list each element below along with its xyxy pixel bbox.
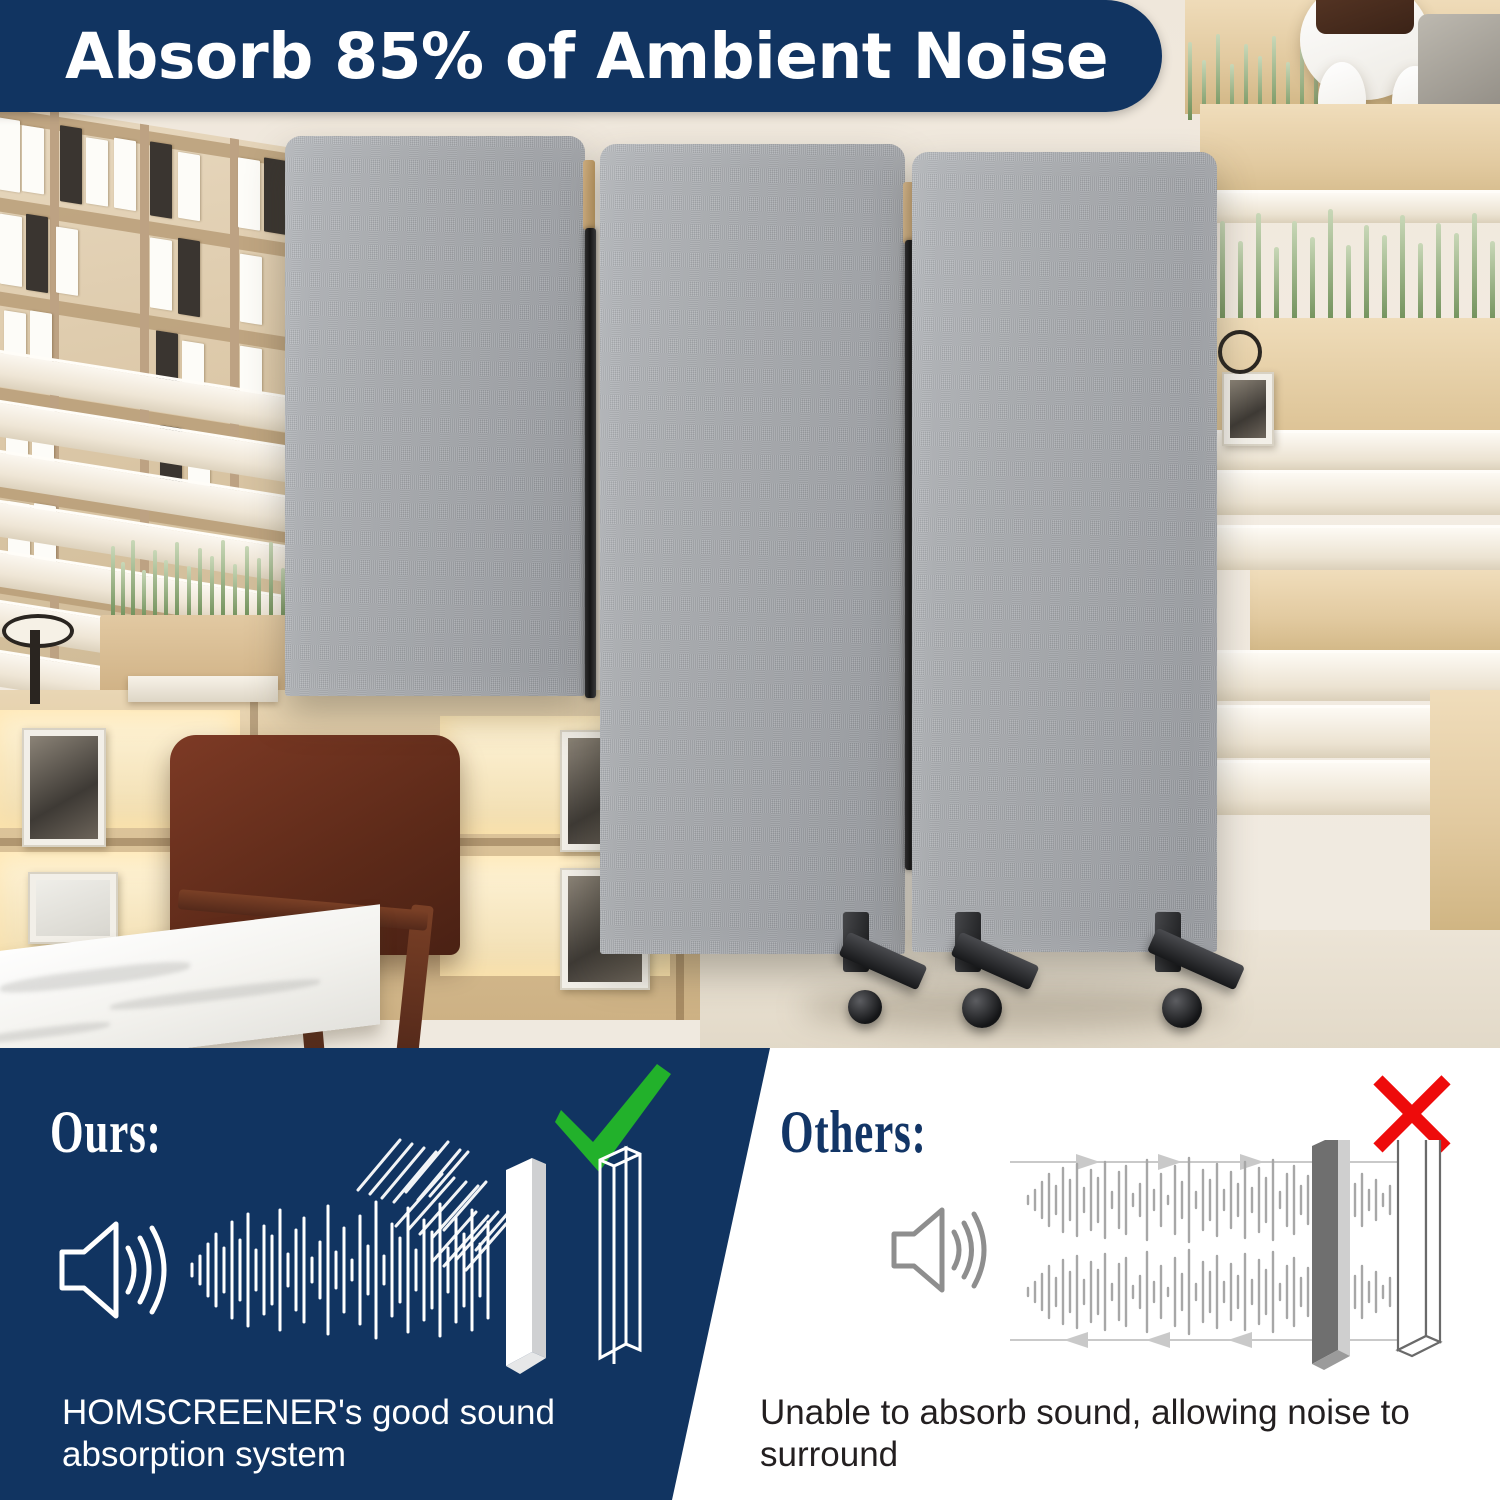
incoming-waveform xyxy=(192,1202,488,1338)
speaker-icon xyxy=(62,1224,164,1316)
hinge-top-1 xyxy=(583,160,595,230)
non-absorbing-panel xyxy=(1312,1140,1350,1370)
ours-caption: HOMSCREENER's good sound absorption syst… xyxy=(62,1392,662,1476)
caster-wheel-3 xyxy=(1162,988,1202,1028)
speaker-icon xyxy=(894,1210,984,1290)
acoustic-panel-solid xyxy=(506,1158,546,1374)
framed-art-2 xyxy=(28,872,118,944)
headline-banner: Absorb 85% of Ambient Noise xyxy=(0,0,1162,112)
decor-ring xyxy=(1218,330,1262,374)
divider-panel-2 xyxy=(600,144,905,954)
caster-wheel-2 xyxy=(962,988,1002,1028)
deflected-waves xyxy=(358,1140,514,1270)
others-caption: Unable to absorb sound, allowing noise t… xyxy=(760,1392,1480,1476)
framed-art-right xyxy=(1222,372,1274,446)
product-marketing-image: Absorb 85% of Ambient Noise Ours: xyxy=(0,0,1500,1500)
hero-product-photo xyxy=(0,0,1500,1048)
others-sound-diagram xyxy=(880,1140,1500,1370)
planter-grass-mid xyxy=(1210,205,1500,325)
ours-sound-diagram xyxy=(40,1130,740,1380)
sculpture-hat xyxy=(1316,0,1414,34)
divider-panel-3 xyxy=(912,152,1217,952)
far-panel-outline xyxy=(1398,1140,1440,1356)
hinge-1 xyxy=(585,228,596,698)
framed-art-1 xyxy=(22,728,106,847)
divider-panel-1 xyxy=(285,136,585,696)
caster-wheel-1 xyxy=(848,990,882,1024)
acoustic-panel-outline xyxy=(600,1148,640,1364)
page-title: Absorb 85% of Ambient Noise xyxy=(65,25,1108,88)
book-stack xyxy=(128,676,278,702)
